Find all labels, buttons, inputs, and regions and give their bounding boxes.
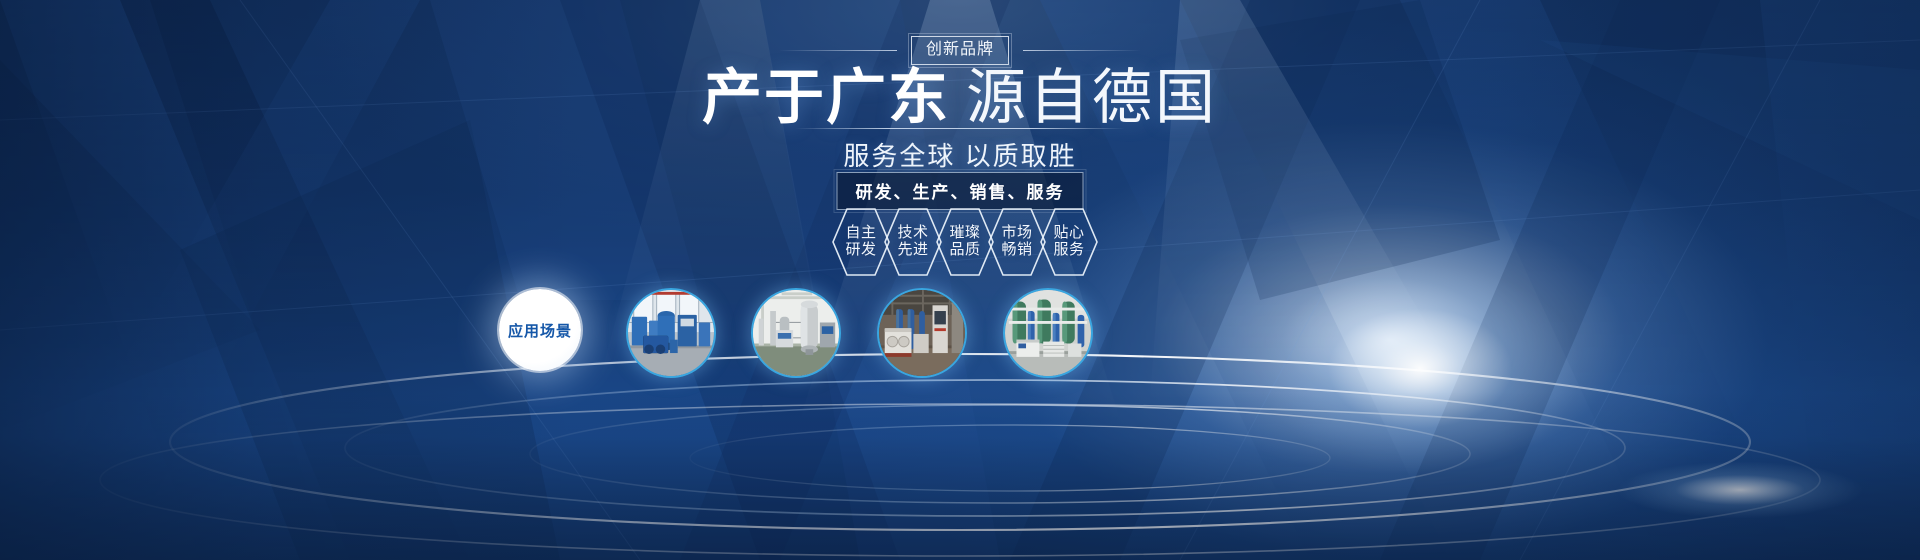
hexagon-label: 技术先进: [897, 225, 928, 259]
application-photo[interactable]: [626, 288, 716, 378]
application-scenario-circle[interactable]: 应用场景: [499, 289, 581, 371]
badge-rule-right: [1023, 50, 1141, 51]
hexagon-label: 璀璨品质: [949, 225, 980, 259]
title-divider: [795, 128, 1125, 129]
brand-badge-row: 创新品牌: [0, 36, 1920, 65]
title-strong: 产于广东: [702, 64, 950, 131]
page-subtitle: 服务全球 以质取胜: [0, 136, 1920, 173]
photo-nitrogen-plant-workshop: [628, 290, 714, 376]
application-photo[interactable]: [877, 288, 967, 378]
hexagon-label: 市场畅销: [1001, 225, 1032, 259]
application-scenario-label: 应用场景: [508, 320, 572, 341]
photo-complete-gas-plant: [1005, 290, 1091, 376]
hexagon-label: 自主研发: [845, 225, 876, 259]
services-bar: 研发、生产、销售、服务: [837, 172, 1084, 210]
title-light: 源自德国: [966, 64, 1218, 131]
feature-hexagon-row: 自主研发 技术先进 璀璨品质 市场畅销: [830, 206, 1090, 278]
hexagon-item[interactable]: 贴心服务: [1038, 206, 1100, 278]
photo-industrial-gas-equipment: [879, 290, 965, 376]
brand-badge: 创新品牌: [911, 36, 1009, 65]
application-photo[interactable]: [751, 288, 841, 378]
page-title: 产于广东源自德国: [0, 68, 1920, 128]
badge-rule-left: [779, 50, 897, 51]
hexagon-label: 贴心服务: [1053, 225, 1084, 259]
photo-storage-tank-piping: [753, 290, 839, 376]
hero-banner: 创新品牌 产于广东源自德国 服务全球 以质取胜 研发、生产、销售、服务 自主研发: [0, 0, 1920, 560]
application-photo[interactable]: [1003, 288, 1093, 378]
